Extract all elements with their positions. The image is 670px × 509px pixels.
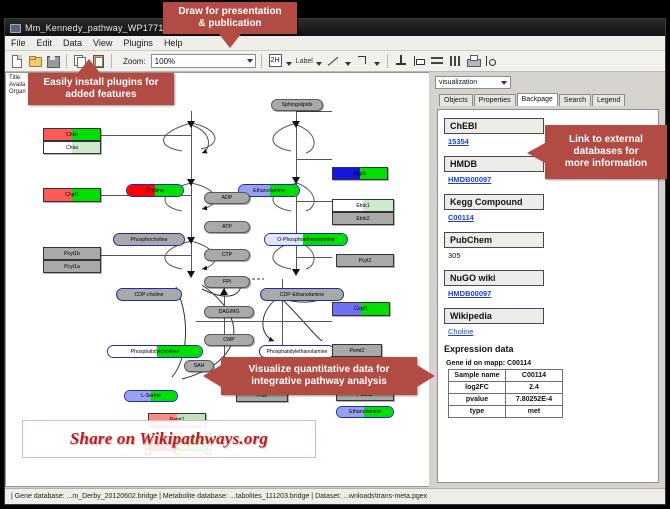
section-heading-chebi: ChEBI [444,118,544,134]
gene-sgpl1[interactable]: Sgpl1 [332,167,388,180]
screenshot-root: Mm_Kennedy_pathway_WP1771_45176.gpml Fil… [0,0,670,509]
line-icon[interactable] [326,53,342,69]
node-cdp-choline[interactable]: CDP-choline [116,288,182,301]
node-cdp-ethanolamine[interactable]: CDP-Ethanolamine [260,288,344,301]
line-dropdown-icon[interactable] [345,62,351,66]
side-panel-tabs: Objects Properties Backpage Search Legen… [429,93,665,106]
value-pubchem-id: 305 [448,251,658,260]
callout-install-plugins: Easily install plugins for added feature… [28,73,174,105]
app-icon [9,22,20,33]
new-file-icon[interactable] [9,53,25,69]
callout-quant-arrow-right [417,365,435,387]
anchor-icon[interactable] [393,53,409,69]
meta-organism: Organ [9,89,26,96]
toolbar: Zoom: 100% Label [5,51,665,72]
callout-draw-arrow [219,34,241,48]
table-row: Sample name C00114 [449,370,563,382]
expr-key-pvalue: pvalue [449,394,506,406]
node-o-phosphoethanolamine[interactable]: O-Phosphoethanolamine [264,233,348,246]
node-dagmg[interactable]: DAG/MG [204,306,254,318]
callout-visualize-quant-data: Visualize quantitative data for integrat… [221,357,417,395]
node-l-serine-left[interactable]: L-Serine [124,390,178,402]
gene-pcyt1b[interactable]: Pcyt1b [43,247,101,260]
elbow-connector-icon[interactable] [355,53,371,69]
toolbar-separator-4 [387,54,388,68]
table-row: log2FC 2.4 [449,382,563,394]
callout-quant-line2: integrative pathway analysis [251,376,387,388]
callout-plugins-line1: Easily install plugins for [43,77,158,89]
tab-legend[interactable]: Legend [592,94,625,106]
expression-data-title: Expression data [444,344,658,354]
expr-val-pvalue: 7.80252E-4 [506,394,563,406]
callout-draw-for-publication: Draw for presentation & publication [163,2,297,34]
zoom-label: Zoom: [123,57,146,66]
section-heading-pubchem: PubChem [444,232,544,248]
print-icon[interactable] [465,53,481,69]
gene-chka[interactable]: Chka [43,141,101,154]
link-kegg-id[interactable]: C00114 [448,213,658,222]
gene-etnk1[interactable]: Etnk1 [332,199,394,212]
callout-external-line3: more information [565,158,647,170]
node-ctp[interactable]: CTP [204,249,250,261]
chevron-down-icon [501,81,507,85]
gene-pcyt2[interactable]: Pcyt2 [336,254,394,267]
node-ppi[interactable]: PPi [204,276,250,288]
node-cmp[interactable]: CMP [204,334,254,346]
pathway-meta: Title: Availa Organ [9,75,26,96]
gene-pemt2-right[interactable]: Pemt2 [332,344,382,357]
connector-dropdown-icon[interactable] [374,62,380,66]
expression-gene-id: Gene id on mapp: C00114 [446,360,658,367]
tab-properties[interactable]: Properties [474,94,516,106]
node-sphingolipids[interactable]: Sphingolipids [271,99,323,111]
callout-quant-line1: Visualize quantitative data for [249,364,390,376]
section-heading-wikipedia: Wikipedia [444,308,544,324]
chevron-down-icon [247,59,253,63]
link-wikipedia[interactable]: Choline [448,327,658,336]
gene-etnk2[interactable]: Etnk2 [332,212,394,225]
tab-backpage[interactable]: Backpage [517,93,558,106]
callout-external-line1: Link to external [569,134,643,146]
label-dropdown-icon[interactable] [316,62,322,66]
gene-chpt1[interactable]: Chpt1 [43,188,101,202]
menu-bar: File Edit Data View Plugins Help [5,36,665,51]
callout-plugins-line2: added features [65,89,136,101]
meta-title: Title: [9,75,26,82]
menu-item-edit[interactable]: Edit [36,38,54,48]
visualization-row: visualization [429,72,665,90]
callout-quant-arrow-left [203,365,221,387]
node-phosphocholine[interactable]: Phosphocholine [113,233,185,246]
distribute-rows-icon[interactable] [429,53,445,69]
expr-val-log2fc: 2.4 [506,382,563,394]
expr-val-sample: C00114 [506,370,563,382]
label-dropdown-label: Label [296,58,313,65]
gene-cept1[interactable]: Cept1 [332,302,390,316]
title-bar: Mm_Kennedy_pathway_WP1771_45176.gpml [5,19,665,36]
share-text: Share on Wikipathways.org [70,429,268,449]
expr-val-type: met [506,406,563,418]
callout-external-arrow [527,143,545,163]
toolbar-separator-3 [261,54,262,68]
save-icon[interactable] [45,53,61,69]
menu-item-data[interactable]: Data [62,38,83,48]
status-bar: | Gene database: ...m_Derby_20120602.bri… [5,488,665,504]
meta-available: Availa [9,82,26,89]
menu-item-view[interactable]: View [92,38,113,48]
expr-key-type: type [449,406,506,418]
callout-draw-line2: & publication [198,18,261,30]
align-left-icon[interactable] [411,53,427,69]
export-icon[interactable] [483,53,499,69]
table-row: type met [449,406,563,418]
menu-item-plugins[interactable]: Plugins [122,38,154,48]
node-phosphatidylcholines[interactable]: Phosphatidylcholines [107,345,203,358]
visualization-combobox[interactable]: visualization [435,76,511,89]
section-heading-kegg: Kegg Compound [444,194,544,210]
expr-key-log2fc: log2FC [449,382,506,394]
node-choline-top[interactable]: Choline [126,184,184,197]
callout-external-line2: databases for [573,146,638,158]
section-heading-nugo: NuGO wiki [444,270,544,286]
callout-draw-line1: Draw for presentation [178,6,281,18]
gene-chkb[interactable]: Chkb [43,128,101,141]
tab-objects[interactable]: Objects [439,94,473,106]
node-atp[interactable]: ATP [204,221,250,233]
link-nugo-id[interactable]: HMDB00097 [448,289,658,298]
tab-search[interactable]: Search [559,94,591,106]
expr-key-sample: Sample name [449,370,506,382]
callout-plugins-arrow [78,59,100,73]
toolbar-separator-1 [66,54,67,68]
menu-item-file[interactable]: File [10,38,27,48]
text-label-dropdown-icon[interactable] [286,62,292,66]
expression-table: Sample name C00114 log2FC 2.4 pvalue 7.8… [448,369,563,418]
node-ethanolamine-bottom[interactable]: Ethanolamine [336,406,394,418]
callout-external-databases: Link to external databases for more info… [545,125,667,179]
table-row: pvalue 7.80252E-4 [449,394,563,406]
visualization-value: visualization [439,79,477,86]
zoom-value: 100% [155,57,175,66]
node-adp[interactable]: ADP [204,192,250,204]
text-label-icon[interactable] [267,53,283,69]
menu-item-help[interactable]: Help [163,38,184,48]
toolbar-separator-2 [111,54,112,68]
distribute-columns-icon[interactable] [447,53,463,69]
open-folder-icon[interactable] [27,53,43,69]
callout-share-wikipathways: Share on Wikipathways.org [22,420,316,458]
gene-pcyt1a[interactable]: Pcyt1a [43,260,101,273]
zoom-combobox[interactable]: 100% [151,54,256,68]
status-text: | Gene database: ...m_Derby_20120602.bri… [11,493,427,500]
